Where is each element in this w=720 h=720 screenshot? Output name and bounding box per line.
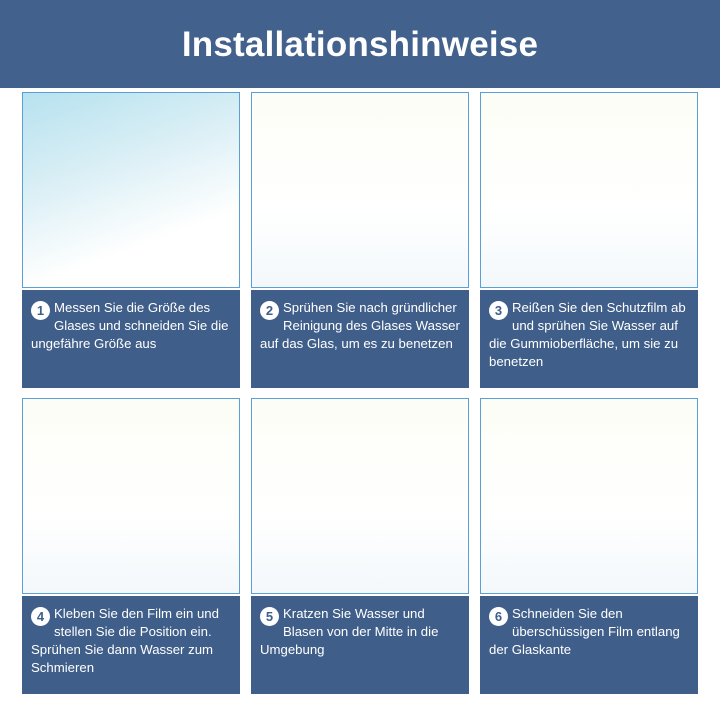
step-5-caption: 5 Kratzen Sie Wasser und Blasen von der … <box>251 596 469 694</box>
step-card-1: CARE 1 <box>22 92 240 392</box>
step-1-number: 1 <box>31 301 50 320</box>
step-4-illustration <box>22 398 240 594</box>
step-2-caption: 2 Sprühen Sie nach gründlicher Reinigung… <box>251 290 469 388</box>
step-3-illustration <box>480 92 698 288</box>
step-6-illustration <box>480 398 698 594</box>
step-3-number: 3 <box>489 301 508 320</box>
step-card-4: 4 Kleben Sie den Film ein und stellen Si… <box>22 398 240 698</box>
step-2-number: 2 <box>260 301 279 320</box>
step-card-3: 3 Reißen Sie den Schutzfilm ab und sprüh… <box>480 92 698 392</box>
step-1-text: Messen Sie die Größe des Glases und schn… <box>31 300 228 351</box>
step-4-caption: 4 Kleben Sie den Film ein und stellen Si… <box>22 596 240 694</box>
step-3-text: Reißen Sie den Schutzfilm ab und sprühen… <box>489 300 686 369</box>
step-2-text: Sprühen Sie nach gründlicher Reinigung d… <box>260 300 460 351</box>
header-banner: Installationshinweise <box>0 0 720 88</box>
step-card-2: CARE 2 Sprühen Sie nach gründlicher Rein… <box>251 92 469 392</box>
step-6-text: Schneiden Sie den überschüssigen Film en… <box>489 606 680 657</box>
step-2-illustration: CARE <box>251 92 469 288</box>
step-5-number: 5 <box>260 607 279 626</box>
step-5-text: Kratzen Sie Wasser und Blasen von der Mi… <box>260 606 438 657</box>
installation-guide-page: Installationshinweise CARE <box>0 0 720 720</box>
step-card-6: 6 Schneiden Sie den überschüssigen Film … <box>480 398 698 698</box>
step-card-5: 5 Kratzen Sie Wasser und Blasen von der … <box>251 398 469 698</box>
page-title: Installationshinweise <box>182 27 538 62</box>
step-4-text: Kleben Sie den Film ein und stellen Sie … <box>31 606 219 675</box>
step-1-illustration: CARE <box>22 92 240 288</box>
step-6-caption: 6 Schneiden Sie den überschüssigen Film … <box>480 596 698 694</box>
step-3-caption: 3 Reißen Sie den Schutzfilm ab und sprüh… <box>480 290 698 388</box>
step-1-caption: 1 Messen Sie die Größe des Glases und sc… <box>22 290 240 388</box>
step-5-illustration <box>251 398 469 594</box>
step-4-number: 4 <box>31 607 50 626</box>
steps-grid: CARE 1 <box>22 92 698 704</box>
step-6-number: 6 <box>489 607 508 626</box>
